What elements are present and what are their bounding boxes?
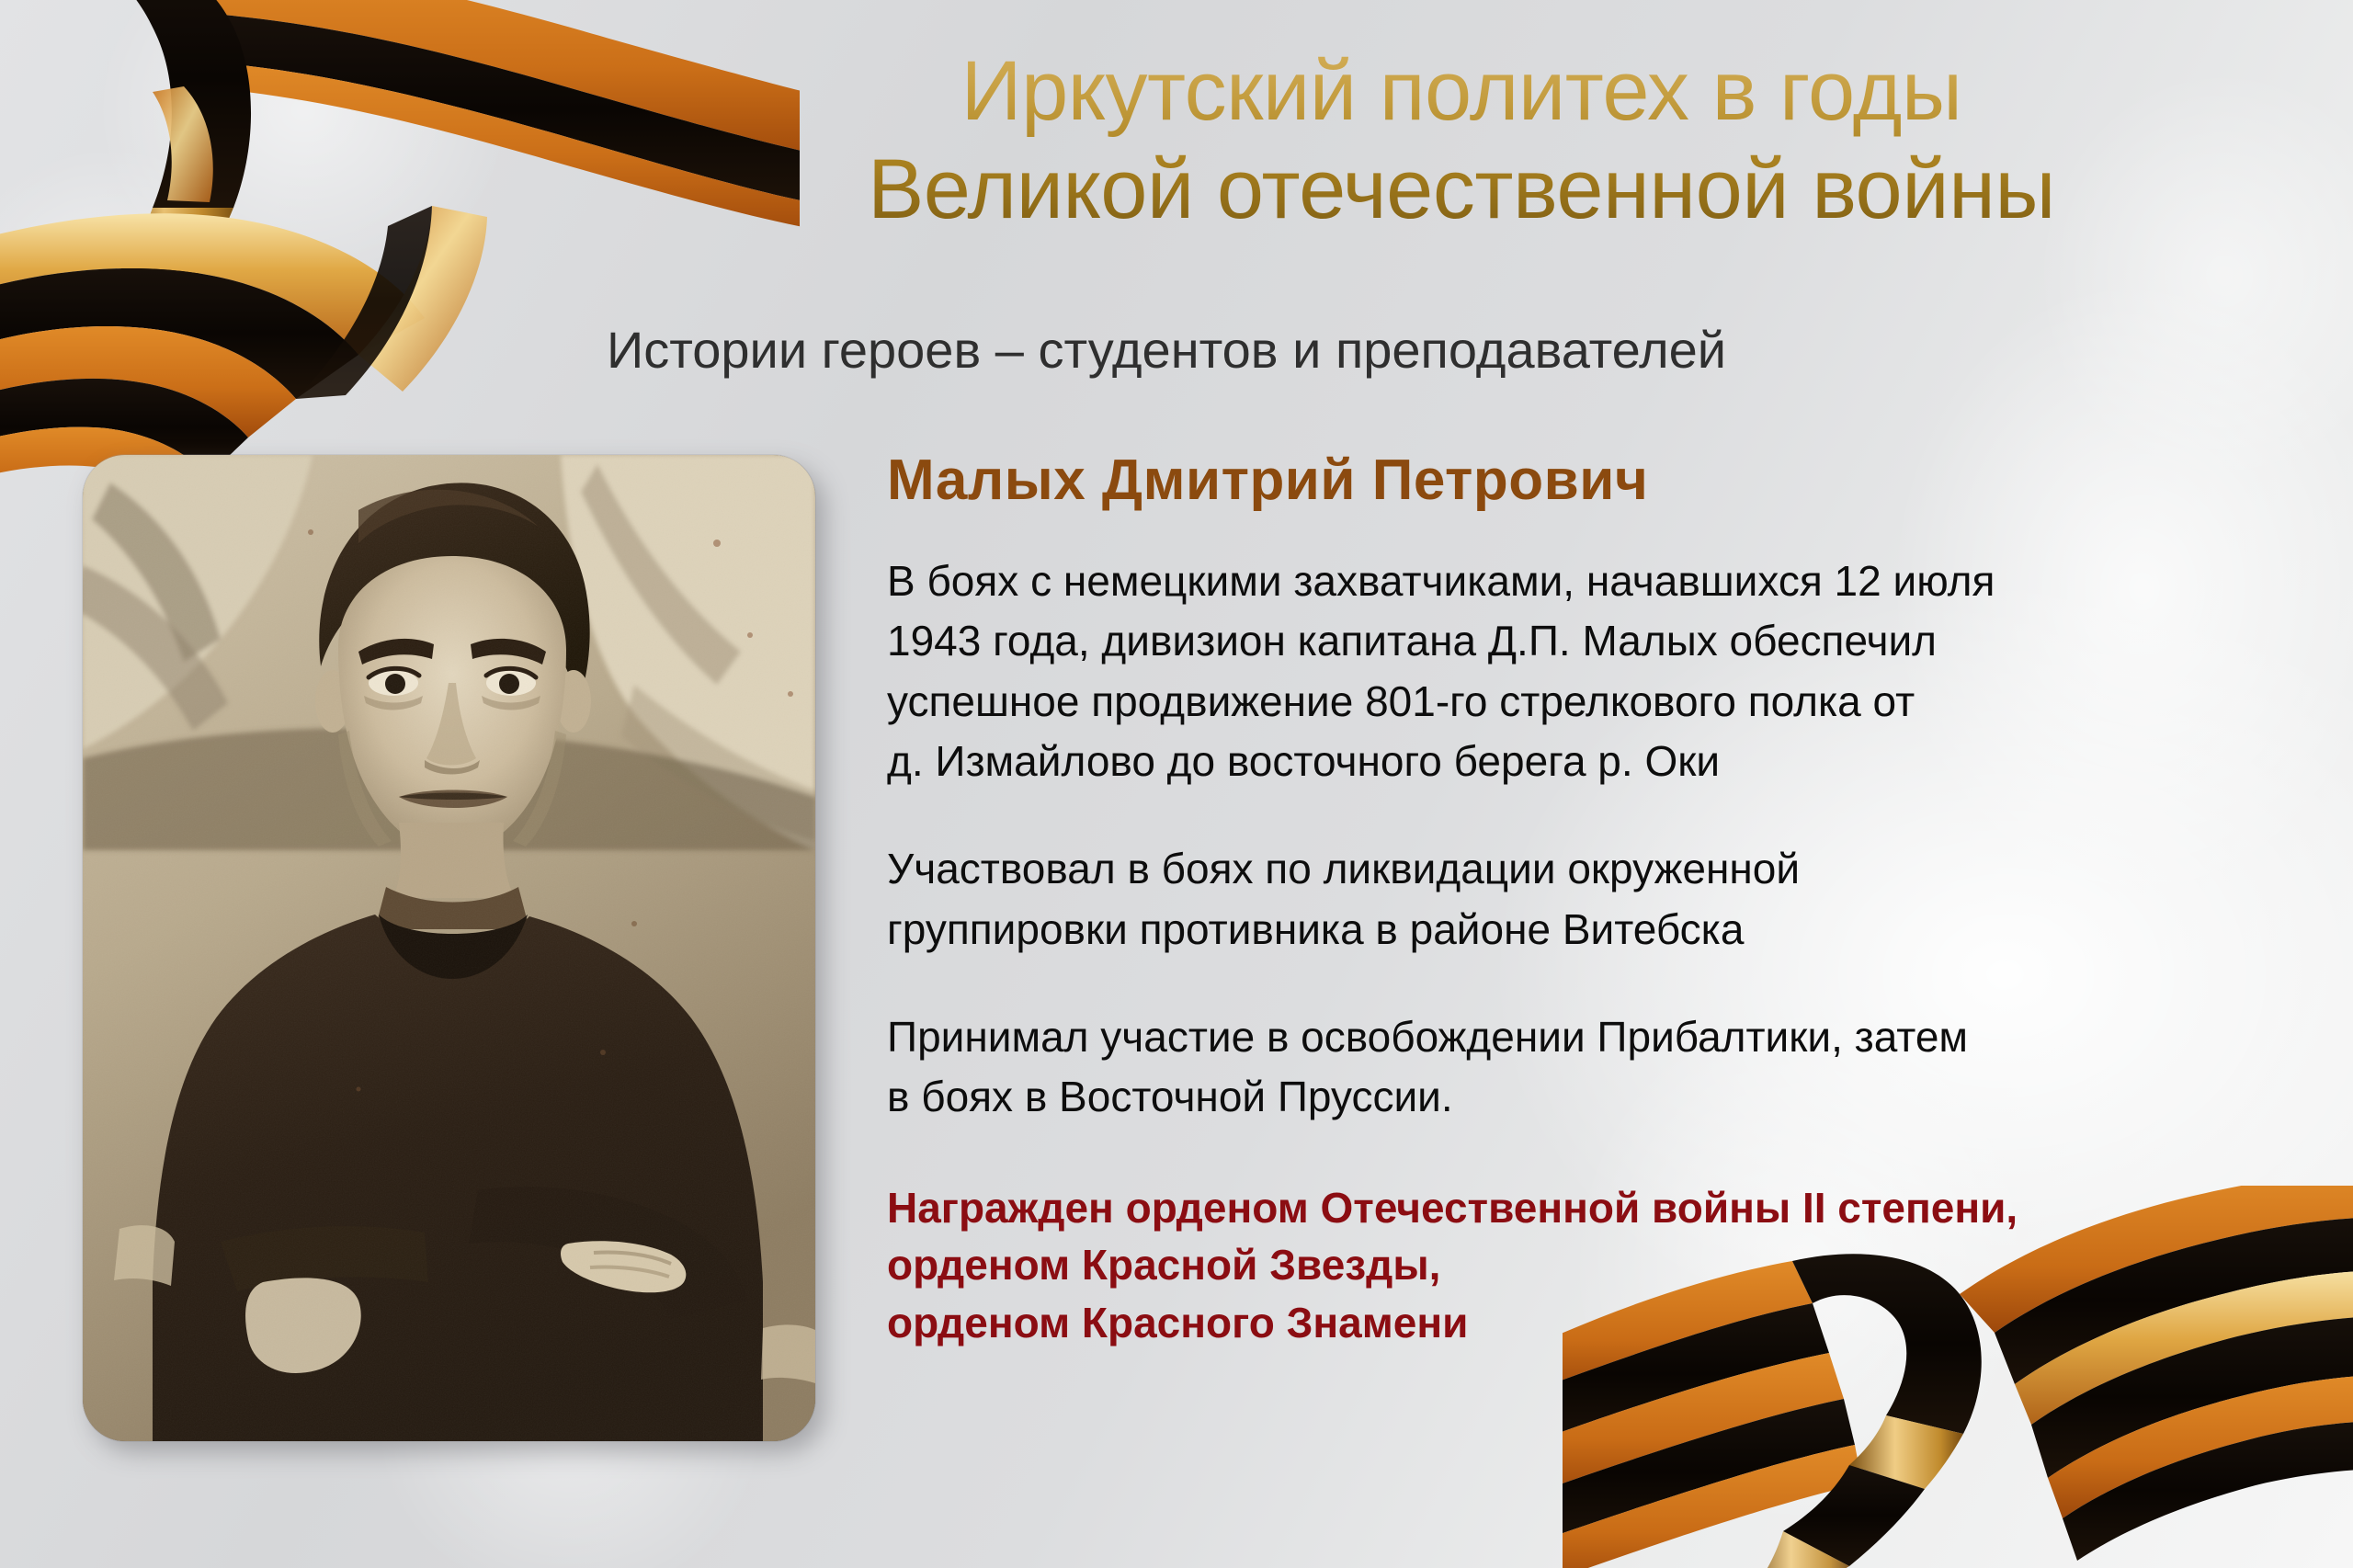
- bio-p1-line-3: успешное продвижение 801-го стрелкового …: [887, 672, 2284, 732]
- biography-paragraph-2: Участвовал в боях по ликвидации окруженн…: [887, 839, 2284, 960]
- bio-p3-line-1: Принимал участие в освобождении Прибалти…: [887, 1007, 2284, 1067]
- person-name: Малых Дмитрий Петрович: [887, 448, 1648, 513]
- page-title-line-1: Иркутский политех в годы: [588, 42, 2335, 141]
- award-line-1: Награжден орденом Отечественной войны II…: [887, 1179, 2284, 1237]
- portrait-photo-image: [83, 455, 815, 1441]
- bio-p1-line-4: д. Измайлово до восточного берега р. Оки: [887, 732, 2284, 791]
- bio-p2-line-1: Участвовал в боях по ликвидации окруженн…: [887, 839, 2284, 899]
- award-line-3: орденом Красного Знамени: [887, 1294, 2284, 1352]
- biography-block: В боях с немецкими захватчиками, начавши…: [887, 551, 2284, 1351]
- bio-p3-line-2: в боях в Восточной Пруссии.: [887, 1067, 2284, 1127]
- award-line-2: орденом Красной Звезды,: [887, 1236, 2284, 1294]
- awards-paragraph: Награжден орденом Отечественной войны II…: [887, 1179, 2284, 1352]
- bio-p1-line-2: 1943 года, дивизион капитана Д.П. Малых …: [887, 611, 2284, 671]
- slide-root: Иркутский политех в годы Великой отечест…: [0, 0, 2353, 1568]
- bio-p2-line-2: группировки противника в районе Витебска: [887, 900, 2284, 960]
- biography-paragraph-1: В боях с немецкими захватчиками, начавши…: [887, 551, 2284, 791]
- bio-p1-line-1: В боях с немецкими захватчиками, начавши…: [887, 551, 2284, 611]
- biography-paragraph-3: Принимал участие в освобождении Прибалти…: [887, 1007, 2284, 1128]
- page-subtitle: Истории героев – студентов и преподавате…: [607, 322, 2316, 379]
- page-title: Иркутский политех в годы Великой отечест…: [588, 42, 2335, 238]
- page-title-line-2: Великой отечественной войны: [588, 141, 2335, 239]
- hero-photo: [83, 455, 815, 1441]
